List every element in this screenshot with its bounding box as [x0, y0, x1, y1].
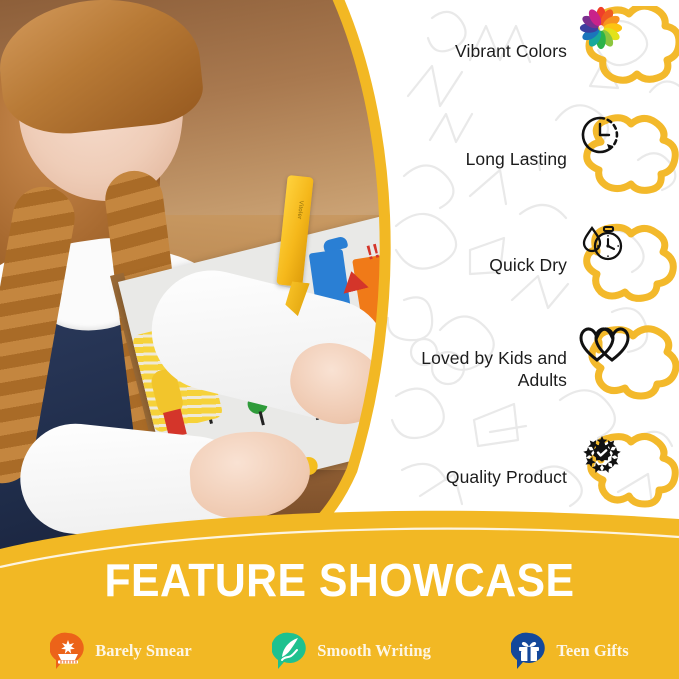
footer-item-teen-gifts[interactable]: Teen Gifts — [511, 632, 628, 670]
footer-item-smooth-writing[interactable]: Smooth Writing — [272, 632, 431, 670]
feature-label: Loved by Kids and Adults — [380, 348, 579, 392]
feature-label: Quick Dry — [380, 255, 579, 277]
girl-hair-top — [0, 0, 206, 140]
bottom-banner: FEATURE SHOWCASE — [0, 505, 679, 679]
feature-icon-blob — [579, 220, 679, 312]
feature-icon-blob — [579, 6, 679, 98]
feature-item-vibrant-colors[interactable]: Vibrant Colors — [380, 4, 679, 100]
product-photo: Ha~~ !! — [0, 0, 400, 560]
feature-icon-blob — [579, 324, 679, 416]
drawing-tree-trunk — [259, 411, 265, 425]
footer-label: Teen Gifts — [556, 641, 628, 661]
footer-label: Smooth Writing — [317, 641, 431, 661]
footer-item-barely-smear[interactable]: Barely Smear — [50, 632, 191, 670]
color-wheel-icon — [579, 6, 679, 98]
feature-label: Vibrant Colors — [380, 41, 579, 63]
stopwatch-droplet-icon — [579, 220, 679, 312]
footer-label: Barely Smear — [95, 641, 191, 661]
banner-title: FEATURE SHOWCASE — [24, 553, 655, 607]
feature-label: Quality Product — [380, 467, 579, 489]
feature-showcase-page: Ha~~ !! — [0, 0, 679, 679]
clock-arrow-icon — [579, 114, 679, 206]
feature-label: Long Lasting — [380, 149, 579, 171]
feature-item-loved-by-kids-and-adults[interactable]: Loved by Kids and Adults — [380, 322, 679, 418]
feature-item-quick-dry[interactable]: Quick Dry — [380, 218, 679, 314]
footer-badge-row: Barely Smear Smooth Writing — [0, 623, 679, 679]
feature-icon-blob — [579, 114, 679, 206]
feather-bubble-icon — [272, 632, 308, 670]
feature-list: Vibrant Colors — [380, 0, 679, 530]
gift-bubble-icon — [511, 632, 547, 670]
feature-item-long-lasting[interactable]: Long Lasting — [380, 112, 679, 208]
sparkle-bubble-icon — [50, 632, 86, 670]
two-hearts-icon — [579, 324, 679, 416]
